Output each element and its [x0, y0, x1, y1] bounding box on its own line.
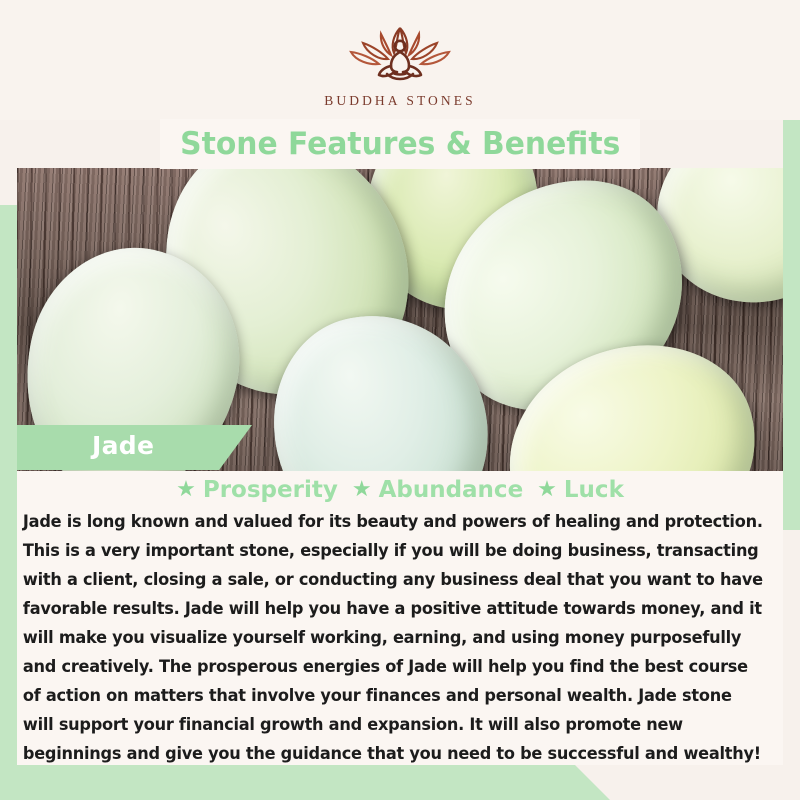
- content-panel: ★ Prosperity ★ Abundance ★ Luck Jade is …: [17, 471, 783, 765]
- benefit-item-luck: ★ Luck: [537, 477, 624, 503]
- page-title: Stone Features & Benefits: [180, 126, 620, 162]
- brand-header: BUDDHA STONES: [0, 0, 800, 120]
- description-text: Jade is long known and valued for its be…: [17, 507, 772, 768]
- benefits-row: ★ Prosperity ★ Abundance ★ Luck: [17, 471, 783, 503]
- benefit-label: Luck: [564, 477, 624, 503]
- benefit-label: Abundance: [379, 477, 524, 503]
- stone-name-label: Jade: [92, 431, 154, 460]
- benefit-item-abundance: ★ Abundance: [352, 477, 523, 503]
- benefit-label: Prosperity: [203, 477, 338, 503]
- benefit-item-prosperity: ★ Prosperity: [176, 477, 338, 503]
- decorative-bottom-band: [0, 765, 610, 800]
- star-icon: ★: [352, 479, 372, 501]
- star-icon: ★: [537, 479, 557, 501]
- star-icon: ★: [176, 479, 196, 501]
- brand-name: BUDDHA STONES: [324, 93, 475, 109]
- title-banner: Stone Features & Benefits: [160, 119, 640, 169]
- lotus-meditation-icon: [341, 22, 459, 89]
- infographic-poster: BUDDHA STONES Stone Features & Benefits …: [0, 0, 800, 800]
